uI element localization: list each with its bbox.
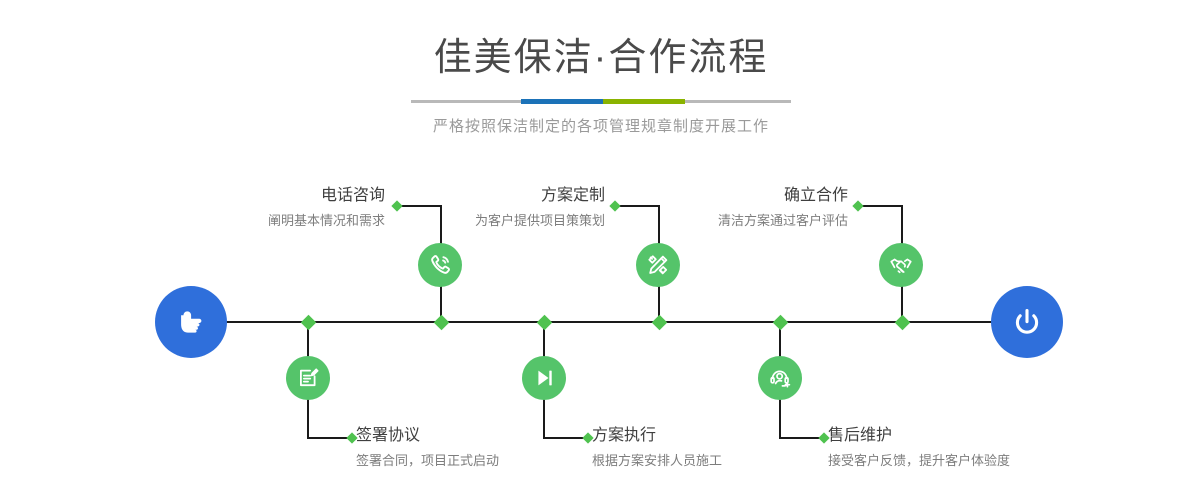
- timeline-marker-step-6: [772, 314, 788, 330]
- handshake-icon: [888, 252, 914, 278]
- step-title-2: 签署协议: [356, 426, 596, 447]
- timeline-end-node[interactable]: [991, 286, 1063, 358]
- timeline-marker-step-3: [651, 314, 667, 330]
- step-icon-4[interactable]: [522, 356, 566, 400]
- step-desc-4: 根据方案安排人员施工: [592, 447, 832, 470]
- timeline-marker-step-4: [536, 314, 552, 330]
- step-label-3: 方案定制 为客户提供项目策策划: [375, 186, 605, 230]
- step-title-6: 售后维护: [828, 426, 1078, 447]
- step-icon-1[interactable]: [418, 243, 462, 287]
- timeline-marker-step-2: [300, 314, 316, 330]
- timeline-start-node[interactable]: [155, 286, 227, 358]
- step-icon-3[interactable]: [636, 243, 680, 287]
- step-label-2: 签署协议 签署合同，项目正式启动: [356, 426, 596, 470]
- timeline: 电话咨询 阐明基本情况和需求 签署协议: [0, 0, 1202, 502]
- play-next-icon: [531, 365, 557, 391]
- pencil-ruler-icon: [645, 252, 671, 278]
- step-icon-5[interactable]: [879, 243, 923, 287]
- step-title-5: 确立合作: [618, 186, 848, 207]
- process-flow-page: 佳美保洁·合作流程 严格按照保洁制定的各项管理规章制度开展工作: [0, 0, 1202, 502]
- step-label-5: 确立合作 清洁方案通过客户评估: [618, 186, 848, 230]
- step-desc-1: 阐明基本情况和需求: [153, 207, 385, 230]
- step-desc-3: 为客户提供项目策策划: [375, 207, 605, 230]
- step-icon-2[interactable]: [286, 356, 330, 400]
- step-icon-6[interactable]: [758, 356, 802, 400]
- timeline-marker-step-5: [894, 314, 910, 330]
- customer-service-add-icon: [767, 365, 793, 391]
- step-label-4: 方案执行 根据方案安排人员施工: [592, 426, 832, 470]
- document-edit-icon: [295, 365, 321, 391]
- phone-call-icon: [427, 252, 453, 278]
- step-title-1: 电话咨询: [153, 186, 385, 207]
- step-desc-2: 签署合同，项目正式启动: [356, 447, 596, 470]
- power-icon: [1007, 302, 1047, 342]
- pointing-hand-icon: [171, 302, 211, 342]
- timeline-marker-step-1: [433, 314, 449, 330]
- step-title-3: 方案定制: [375, 186, 605, 207]
- step-desc-6: 接受客户反馈，提升客户体验度: [828, 447, 1078, 470]
- step-desc-5: 清洁方案通过客户评估: [618, 207, 848, 230]
- connector-horizontal-step-5: [858, 205, 903, 207]
- step-label-6: 售后维护 接受客户反馈，提升客户体验度: [828, 426, 1078, 470]
- step-label-1: 电话咨询 阐明基本情况和需求: [153, 186, 385, 230]
- label-dot-step-5: [852, 200, 863, 211]
- step-title-4: 方案执行: [592, 426, 832, 447]
